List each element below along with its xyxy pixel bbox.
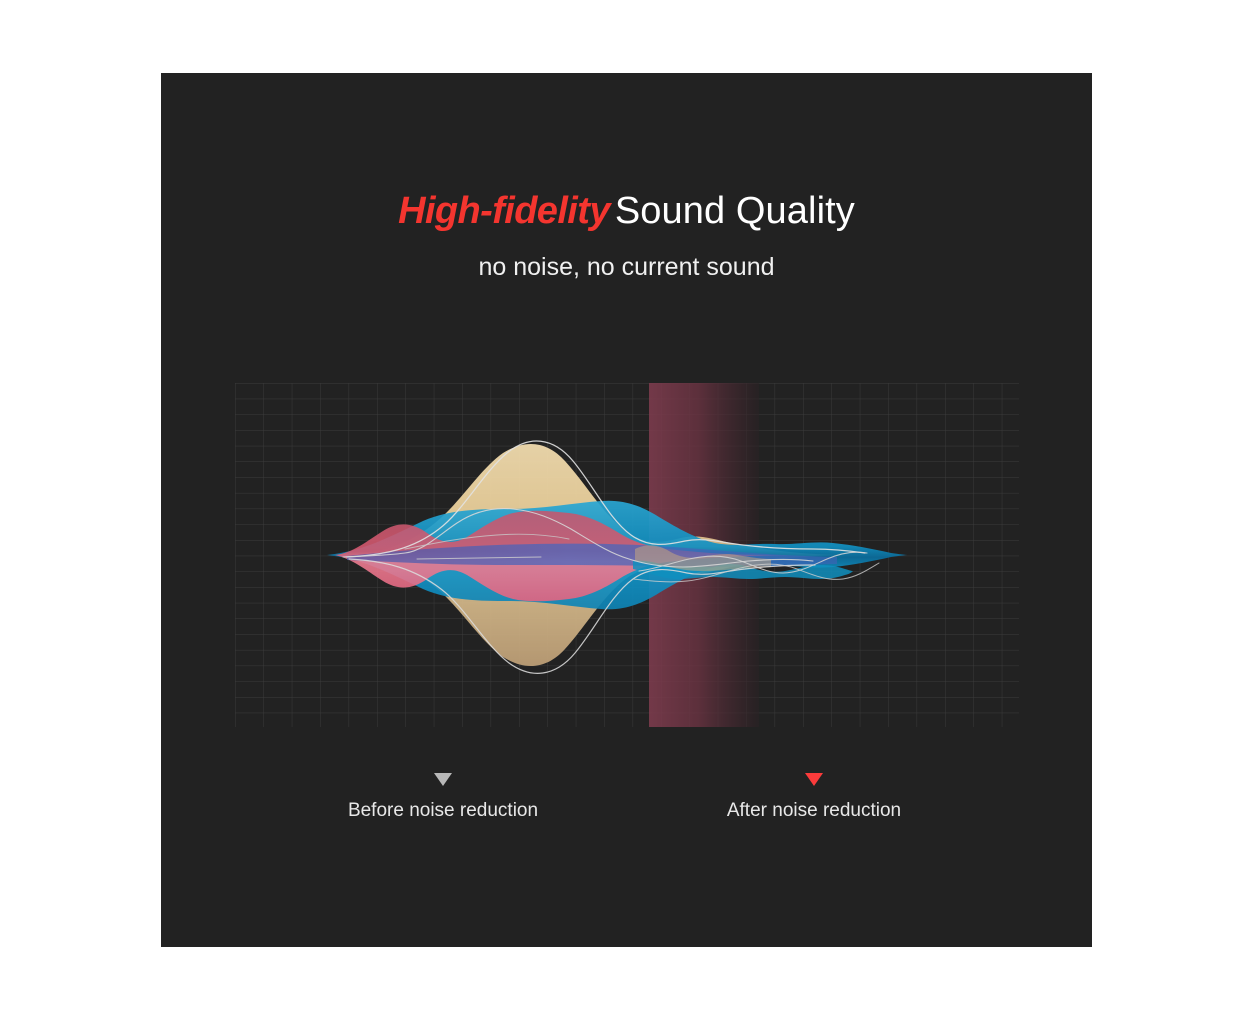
- waveform-svg: [235, 383, 1019, 727]
- legend-item-before: Before noise reduction: [293, 773, 593, 822]
- product-feature-card: High-fidelitySound Quality no noise, no …: [161, 73, 1092, 947]
- header-block: High-fidelitySound Quality no noise, no …: [161, 188, 1092, 283]
- page-root: High-fidelitySound Quality no noise, no …: [0, 0, 1252, 1024]
- page-title: High-fidelitySound Quality: [161, 188, 1092, 234]
- page-title-rest: Sound Quality: [615, 190, 855, 232]
- page-subtitle: no noise, no current sound: [161, 251, 1092, 283]
- page-title-accent: High-fidelity: [398, 190, 610, 232]
- chart-legend: Before noise reduction After noise reduc…: [161, 773, 1092, 853]
- triangle-down-icon-after: [805, 773, 823, 786]
- triangle-down-icon-before: [434, 773, 452, 786]
- legend-label-after: After noise reduction: [664, 799, 964, 822]
- legend-item-after: After noise reduction: [664, 773, 964, 822]
- legend-label-before: Before noise reduction: [293, 799, 593, 822]
- waveform-chart: [235, 383, 1019, 727]
